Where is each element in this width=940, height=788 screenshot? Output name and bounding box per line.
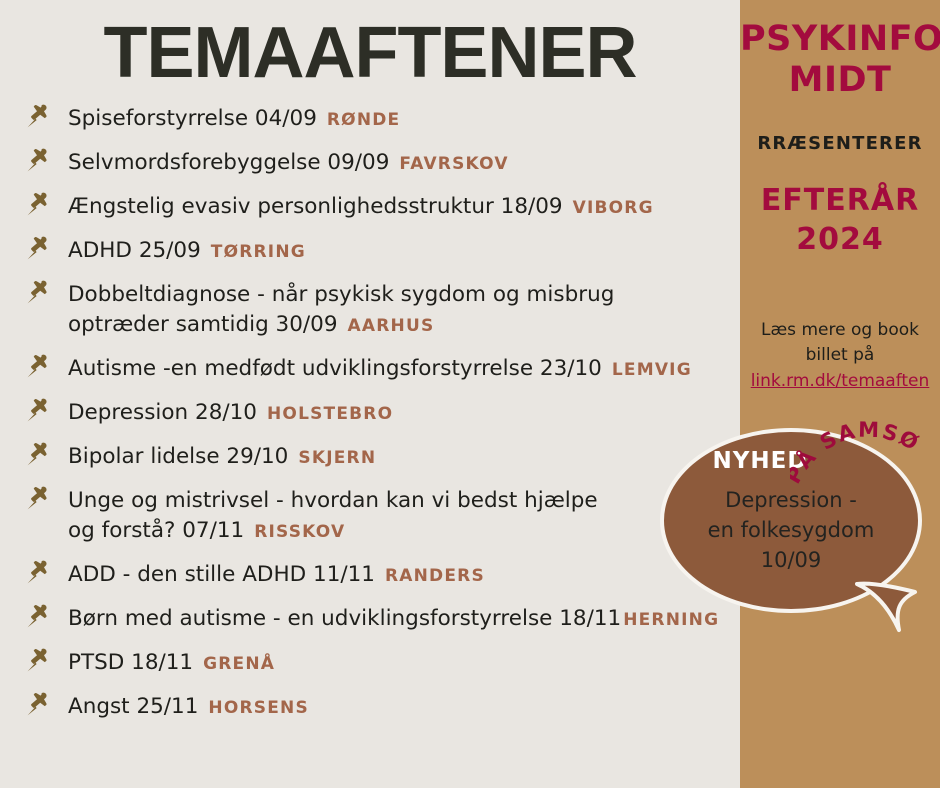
event-city: HERNING <box>623 610 719 630</box>
booking-info: Læs mere og book billet på link.rm.dk/te… <box>746 318 934 394</box>
event-title: ADHD 25/09 <box>68 238 201 263</box>
pa-samso-curved-label: PÅ SAMSØ <box>790 420 940 510</box>
event-city: AARHUS <box>348 316 435 336</box>
event-title: Angst 25/11 <box>68 694 198 719</box>
event-city: RANDERS <box>385 566 485 586</box>
event-item[interactable]: Selvmordsforebyggelse 09/09FAVRSKOV <box>24 148 740 178</box>
season-label-line1: EFTERÅR <box>740 183 940 218</box>
pushpin-icon <box>24 278 54 308</box>
pushpin-icon <box>24 646 54 676</box>
page-title: TEMAAFTENER <box>0 12 740 94</box>
event-item[interactable]: Angst 25/11HORSENS <box>24 692 740 722</box>
brand-name-line1: PSYKINFO <box>740 22 940 57</box>
event-title: Selvmordsforebyggelse 09/09 <box>68 150 389 175</box>
event-city: SKJERN <box>298 448 376 468</box>
pushpin-icon <box>24 484 54 514</box>
event-city: HOLSTEBRO <box>267 404 393 424</box>
event-city: VIBORG <box>573 198 654 218</box>
booking-link[interactable]: link.rm.dk/temaaften <box>746 369 934 394</box>
pa-samso-text: PÅ SAMSØ <box>790 420 924 488</box>
pushpin-icon <box>24 690 54 720</box>
event-item[interactable]: Dobbeltdiagnose - når psykisk sygdom og … <box>24 280 740 340</box>
event-title: Ængstelig evasiv personlighedsstruktur 1… <box>68 194 563 219</box>
pushpin-icon <box>24 190 54 220</box>
event-title: Spiseforstyrrelse 04/09 <box>68 106 317 131</box>
event-city: GRENÅ <box>203 654 275 674</box>
event-item[interactable]: Ængstelig evasiv personlighedsstruktur 1… <box>24 192 740 222</box>
event-title-line2: og forstå? 07/11 <box>68 518 244 543</box>
pushpin-icon <box>24 146 54 176</box>
event-title: Børn med autisme - en udviklingsforstyrr… <box>68 606 621 631</box>
brand-name-line2: MIDT <box>740 63 940 98</box>
pushpin-icon <box>24 396 54 426</box>
event-item[interactable]: Børn med autisme - en udviklingsforstyrr… <box>24 604 740 634</box>
event-item[interactable]: Autisme -en medfødt udviklingsforstyrrel… <box>24 354 740 384</box>
news-line-2: en folkesygdom <box>672 516 910 546</box>
event-city: HORSENS <box>208 698 309 718</box>
event-city: TØRRING <box>211 242 306 262</box>
pushpin-icon <box>24 234 54 264</box>
presents-label: RRÆSENTERER <box>740 133 940 154</box>
event-item[interactable]: Depression 28/10HOLSTEBRO <box>24 398 740 428</box>
event-item[interactable]: PTSD 18/11GRENÅ <box>24 648 740 678</box>
sidebar-panel: PSYKINFO MIDT RRÆSENTERER EFTERÅR 2024 L… <box>740 0 940 788</box>
pushpin-icon <box>24 558 54 588</box>
event-item[interactable]: Unge og mistrivsel - hvordan kan vi beds… <box>24 486 740 546</box>
event-item[interactable]: Bipolar lidelse 29/10SKJERN <box>24 442 740 472</box>
event-title: PTSD 18/11 <box>68 650 193 675</box>
news-line-3: 10/09 <box>672 546 910 576</box>
event-list: Spiseforstyrrelse 04/09RØNDESelvmordsfor… <box>24 104 740 736</box>
event-title: Unge og mistrivsel - hvordan kan vi beds… <box>68 488 598 513</box>
event-title: Depression 28/10 <box>68 400 257 425</box>
event-item[interactable]: Spiseforstyrrelse 04/09RØNDE <box>24 104 740 134</box>
pushpin-icon <box>24 440 54 470</box>
event-title: ADD - den stille ADHD 11/11 <box>68 562 375 587</box>
season-year: 2024 <box>740 222 940 257</box>
event-city: LEMVIG <box>612 360 692 380</box>
event-title: Dobbeltdiagnose - når psykisk sygdom og … <box>68 282 614 307</box>
event-city: RISSKOV <box>254 522 345 542</box>
event-city: RØNDE <box>327 110 401 130</box>
event-title-line2: optræder samtidig 30/09 <box>68 312 338 337</box>
pushpin-icon <box>24 602 54 632</box>
event-item[interactable]: ADD - den stille ADHD 11/11RANDERS <box>24 560 740 590</box>
event-item[interactable]: ADHD 25/09TØRRING <box>24 236 740 266</box>
poster-canvas: PSYKINFO MIDT RRÆSENTERER EFTERÅR 2024 L… <box>0 0 940 788</box>
event-title: Autisme -en medfødt udviklingsforstyrrel… <box>68 356 602 381</box>
event-title: Bipolar lidelse 29/10 <box>68 444 288 469</box>
pushpin-icon <box>24 352 54 382</box>
event-city: FAVRSKOV <box>399 154 508 174</box>
pushpin-icon <box>24 102 54 132</box>
booking-text: Læs mere og book billet på <box>761 320 919 365</box>
